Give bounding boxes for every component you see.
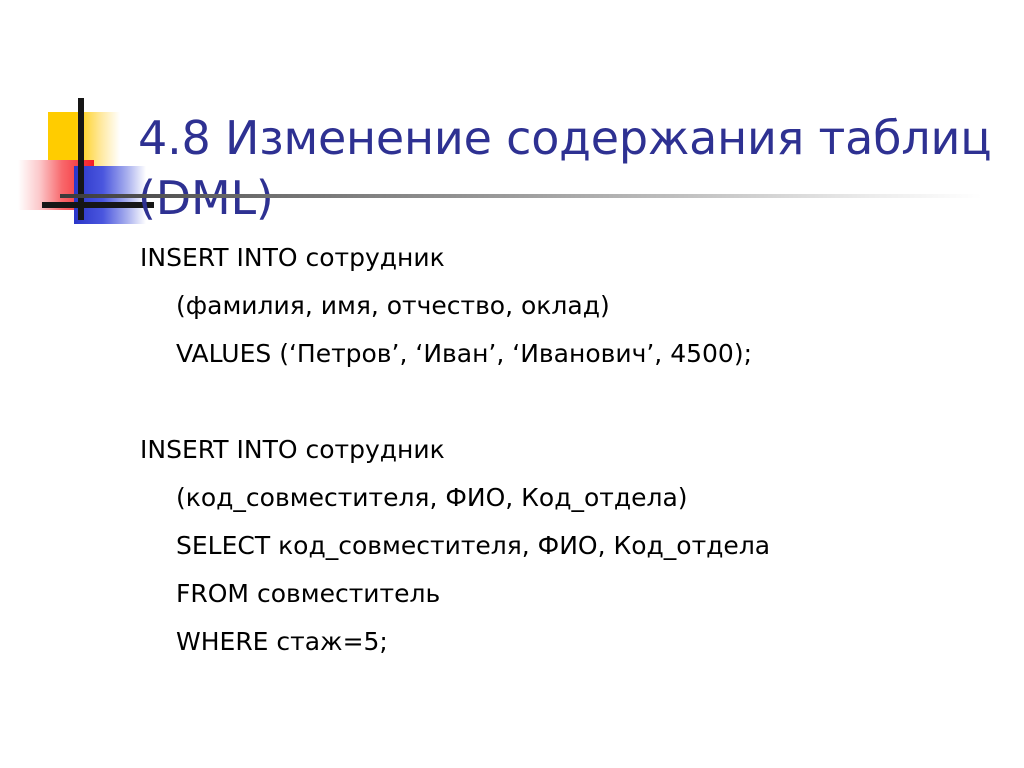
blank-line [140,378,1000,426]
code-line: (фамилия, имя, отчество, оклад) [140,282,1000,330]
slide-body-text: INSERT INTO сотрудник (фамилия, имя, отч… [140,234,1000,666]
code-line: VALUES (‘Петров’, ‘Иван’, ‘Иванович’, 45… [140,330,1000,378]
yellow-square-shape [48,112,120,174]
code-line: (код_совместителя, ФИО, Код_отдела) [140,474,1000,522]
code-line: WHERE стаж=5; [140,618,1000,666]
slide-title: 4.8 Изменение содержания таблиц (DML) [138,109,998,229]
slide-canvas: 4.8 Изменение содержания таблиц (DML) IN… [0,0,1024,768]
code-line: FROM совместитель [140,570,1000,618]
code-line: INSERT INTO сотрудник [140,234,1000,282]
code-line: INSERT INTO сотрудник [140,426,1000,474]
cross-vertical-bar [78,98,84,220]
red-square-shape [18,160,94,210]
title-underline-rule [60,194,982,198]
code-line: SELECT код_совместителя, ФИО, Код_отдела [140,522,1000,570]
